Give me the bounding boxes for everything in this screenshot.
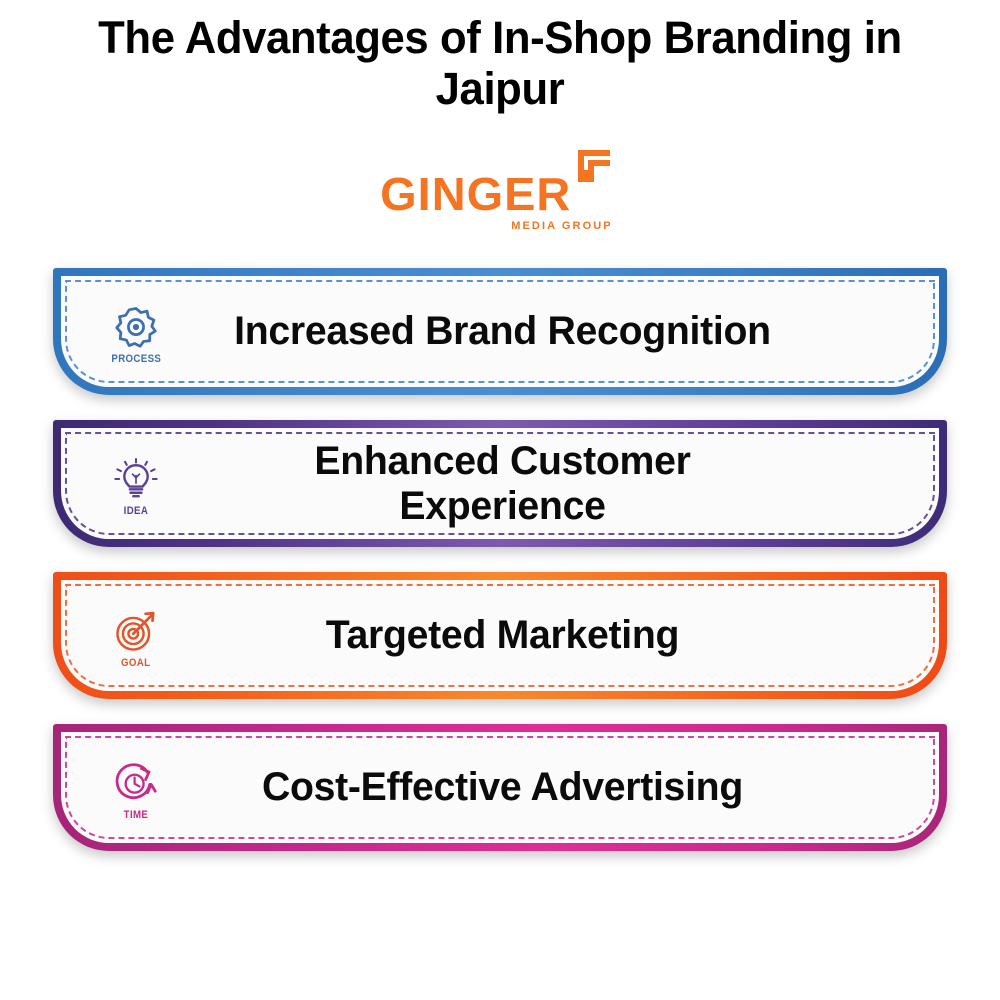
card-title: Increased Brand Recognition [218, 309, 931, 354]
card-icon-label: GOAL [121, 657, 150, 669]
advantages-list: PROCESS Increased Brand Recognition [53, 268, 947, 876]
lightbulb-icon [114, 457, 158, 501]
nested-squares-mark-icon [574, 146, 614, 191]
card-icon-cell: PROCESS [61, 299, 211, 365]
list-item[interactable]: TIME Cost-Effective Advertising [53, 724, 947, 851]
header: The Advantages of In-Shop Branding in Ja… [0, 0, 1000, 115]
card-icon-cell: TIME [61, 755, 211, 821]
logo-tagline: MEDIA GROUP [382, 220, 613, 232]
clock-arrow-icon [114, 761, 158, 805]
card-icon-label: TIME [124, 809, 149, 821]
card-icon-cell: IDEA [61, 451, 211, 517]
page-title: The Advantages of In-Shop Branding in Ja… [29, 12, 972, 115]
card-title: Cost-Effective Advertising [218, 765, 931, 810]
list-item[interactable]: GOAL Targeted Marketing [53, 572, 947, 699]
list-item[interactable]: IDEA Enhanced Customer Experience [53, 420, 947, 547]
list-item[interactable]: PROCESS Increased Brand Recognition [53, 268, 947, 395]
logo-wordmark: GINGER [380, 173, 571, 217]
target-dart-icon [114, 609, 158, 653]
card-icon-cell: GOAL [61, 603, 211, 669]
card-title: Targeted Marketing [218, 613, 931, 658]
gear-icon [114, 305, 158, 349]
card-title: Enhanced Customer Experience [218, 439, 931, 529]
card-icon-label: PROCESS [111, 353, 161, 365]
brand-logo: GINGER MEDIA GROUP [0, 141, 1000, 237]
card-icon-label: IDEA [124, 505, 149, 517]
